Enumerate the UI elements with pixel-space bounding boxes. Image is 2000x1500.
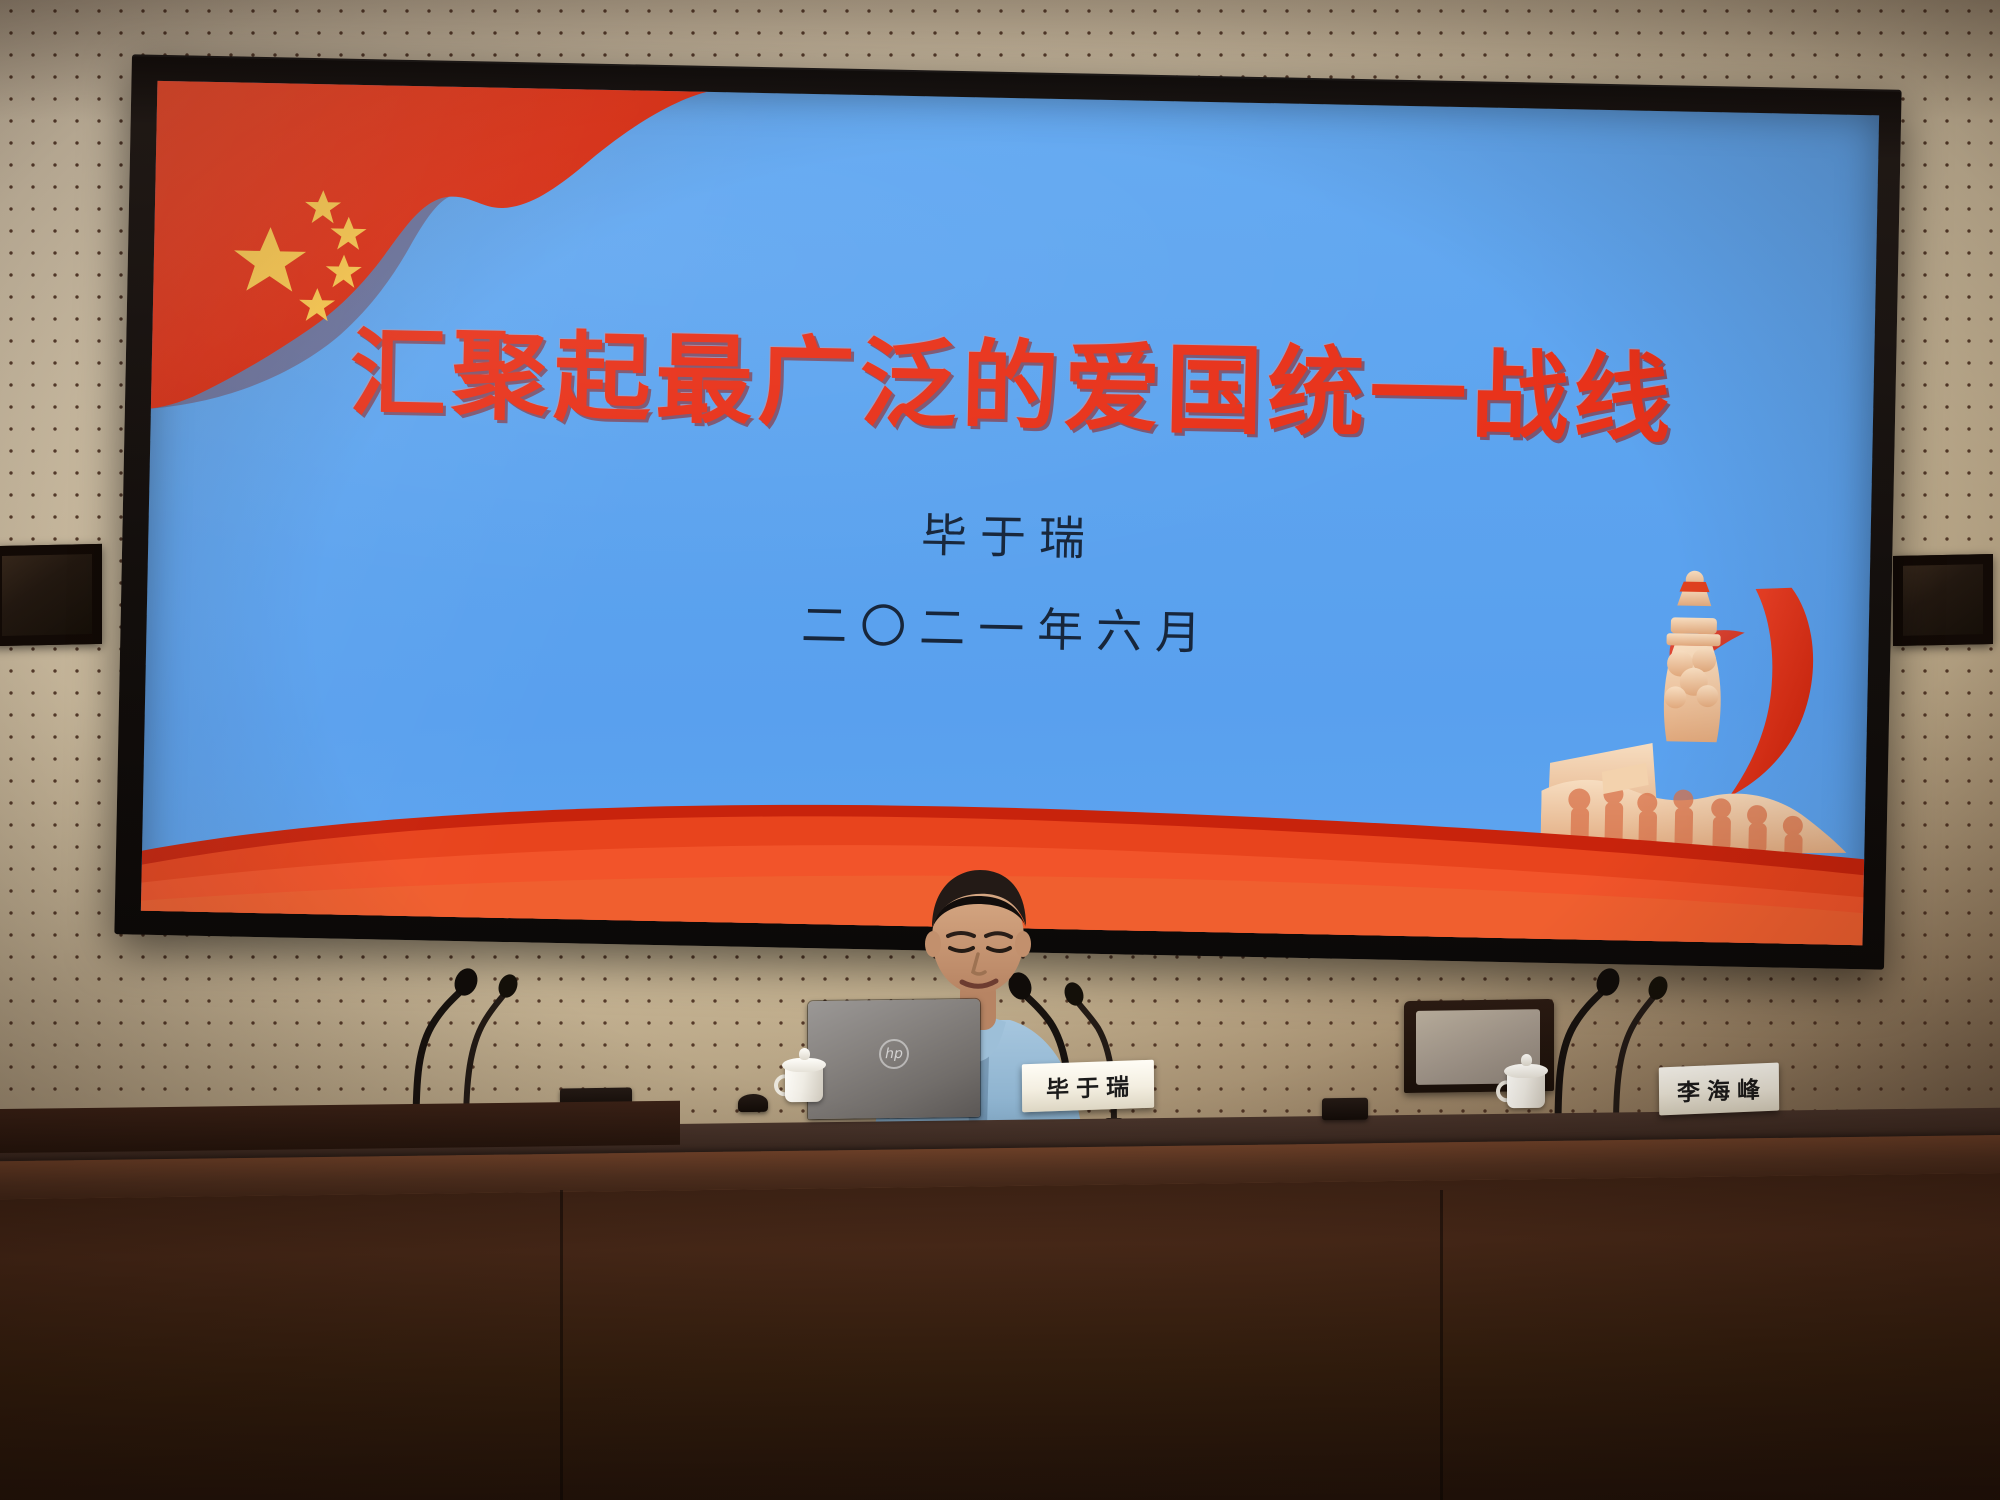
name-placard-right: 李海峰 <box>1659 1063 1779 1116</box>
teacup-left-knob <box>799 1048 810 1060</box>
laptop[interactable]: hp <box>808 999 980 1119</box>
screen-bezel: 汇聚起最广泛的爱国统一战线 毕于瑞 二〇二一年六月 <box>114 54 1901 969</box>
desk-front-panel <box>0 1173 2000 1500</box>
wall-recess-left <box>0 544 102 646</box>
teacup-left <box>782 1046 826 1103</box>
wall-recess-right-glass <box>1903 564 1983 636</box>
desk-panel-seam-left <box>560 1190 563 1500</box>
slide-date: 二〇二一年六月 <box>146 576 1869 677</box>
teacup-right-knob <box>1521 1054 1532 1066</box>
presentation-screen[interactable]: 汇聚起最广泛的爱国统一战线 毕于瑞 二〇二一年六月 <box>141 81 1879 945</box>
name-placard-left: 毕于瑞 <box>1022 1060 1154 1113</box>
slide-text-block: 汇聚起最广泛的爱国统一战线 毕于瑞 二〇二一年六月 <box>146 81 1879 676</box>
wall-recess-right <box>1893 554 1993 646</box>
desk-riser <box>0 1101 680 1154</box>
desk-console-center <box>738 1094 768 1112</box>
desk-panel-seam-right <box>1440 1190 1443 1500</box>
desk-console-right <box>1322 1098 1368 1121</box>
wall-recess-left-glass <box>2 554 92 636</box>
slide-presenter-name: 毕于瑞 <box>148 484 1871 585</box>
teacup-right <box>1504 1052 1548 1109</box>
slide-title: 汇聚起最广泛的爱国统一战线 <box>151 319 1875 456</box>
conference-hall-scene: 汇聚起最广泛的爱国统一战线 毕于瑞 二〇二一年六月 <box>0 0 2000 1500</box>
